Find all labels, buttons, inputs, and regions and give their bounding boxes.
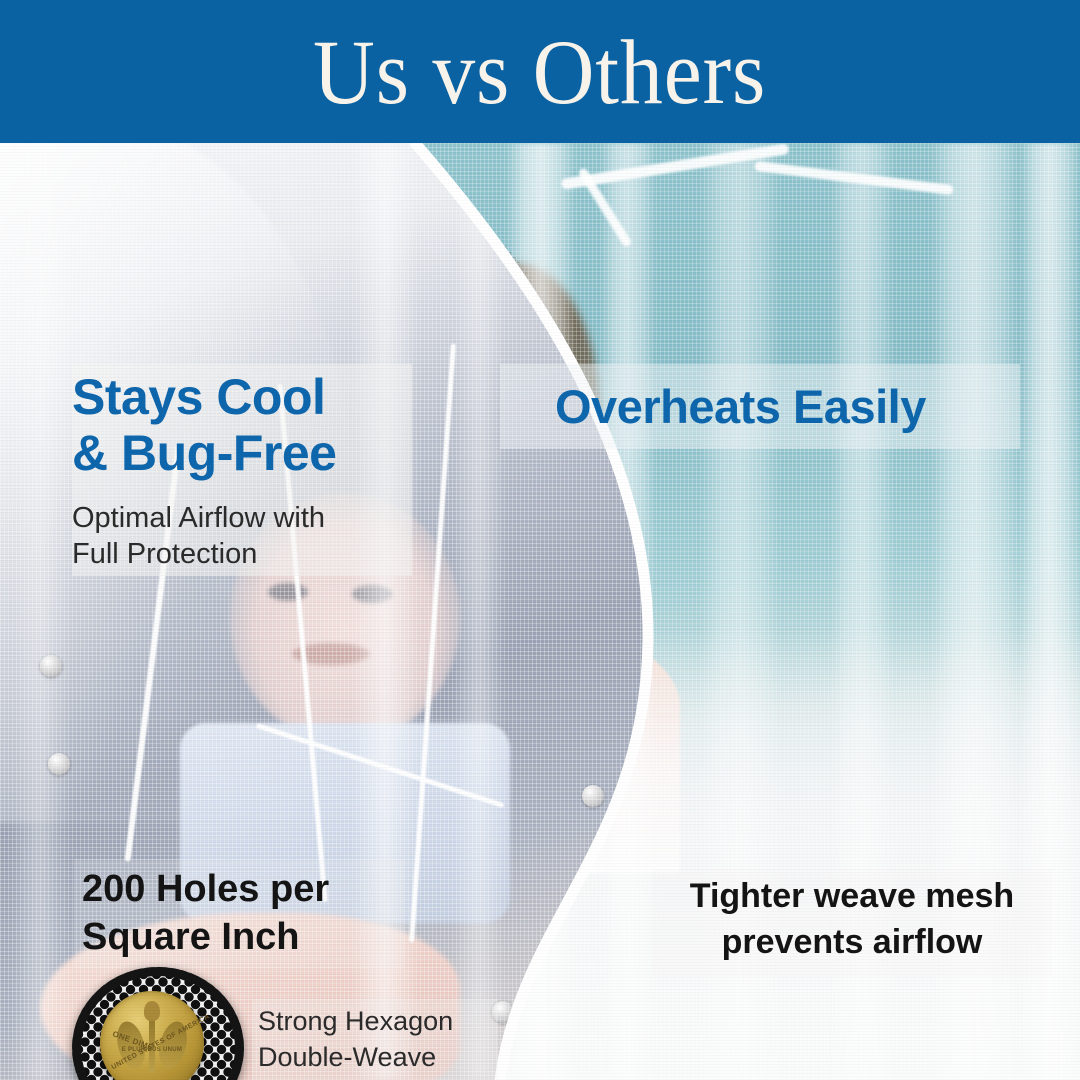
others-caption-line2: prevents airflow <box>652 919 1052 965</box>
dime-coin: UNITED STATES OF AMERICA E PLURIBUS UNUM… <box>100 991 204 1080</box>
snap-button <box>48 753 70 775</box>
coin-text-bottom: ONE DIME <box>111 1029 154 1052</box>
us-headline-line1: Stays Cool <box>72 369 336 425</box>
snap-button <box>40 655 62 677</box>
us-stat: 200 Holes per Square Inch <box>82 865 329 961</box>
badge-caption-line1: Strong Hexagon <box>258 1003 453 1039</box>
comparison-infographic: Us vs Others S K <box>0 0 1080 1080</box>
us-headline: Stays Cool & Bug-Free <box>72 369 336 481</box>
us-subheadline-line2: Full Protection <box>72 536 325 572</box>
badge-caption-line2: Double-Weave <box>258 1039 453 1075</box>
others-caption: Tighter weave mesh prevents airflow <box>652 873 1052 965</box>
us-stat-line1: 200 Holes per <box>82 865 329 913</box>
coin-legend-bottom: ONE DIME <box>100 991 204 1080</box>
us-stat-line2: Square Inch <box>82 913 329 961</box>
canopy-fold <box>452 143 506 1080</box>
snap-button <box>582 785 604 807</box>
baby-eye-left <box>268 583 308 601</box>
us-subheadline-line1: Optimal Airflow with <box>72 500 325 536</box>
us-headline-line2: & Bug-Free <box>72 425 336 481</box>
others-headline: Overheats Easily <box>555 371 926 443</box>
header-banner: Us vs Others <box>0 0 1080 143</box>
badge-caption: Strong Hexagon Double-Weave Mesh <box>258 1003 453 1080</box>
page-title: Us vs Others <box>313 26 766 118</box>
canopy-fold <box>10 143 70 1080</box>
photo-stage: S K <box>0 143 1080 1080</box>
hex-mesh-badge: UNITED STATES OF AMERICA E PLURIBUS UNUM… <box>72 967 244 1080</box>
badge-caption-line3: Mesh <box>258 1075 453 1080</box>
us-subheadline: Optimal Airflow with Full Protection <box>72 500 325 572</box>
others-caption-line1: Tighter weave mesh <box>652 873 1052 919</box>
